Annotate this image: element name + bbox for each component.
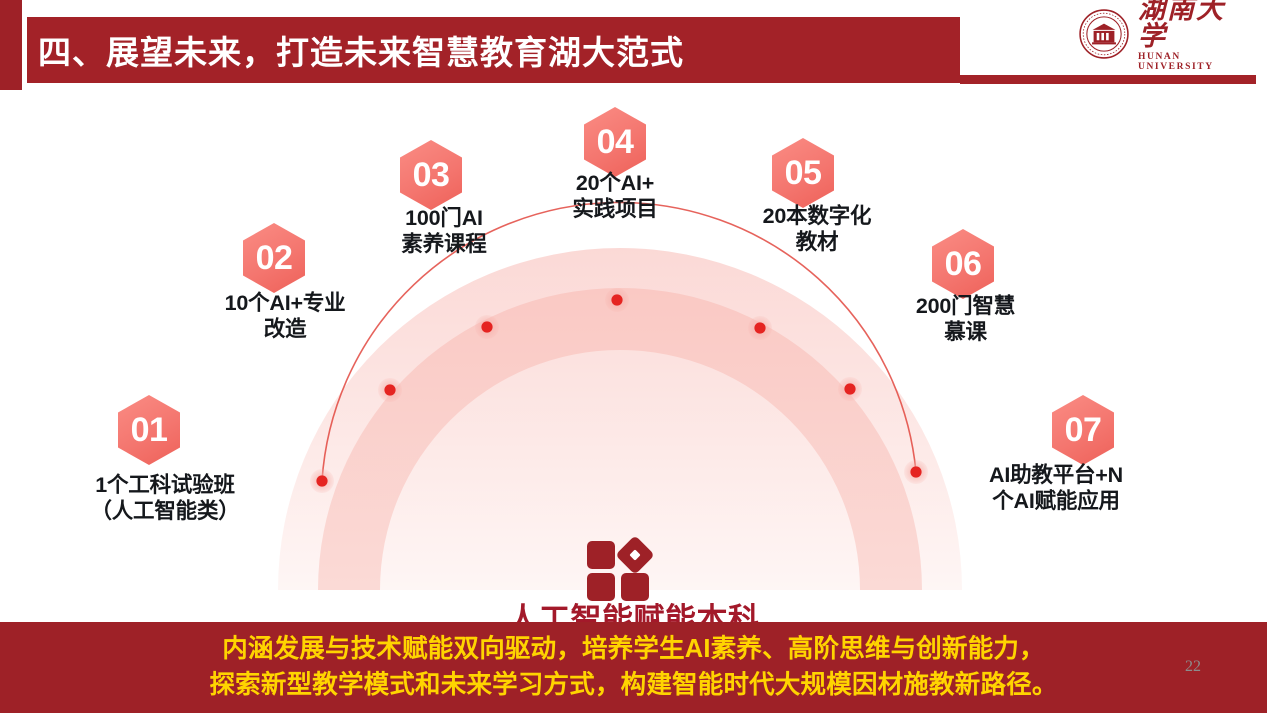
- logo-name-cn: 湖南大学: [1138, 0, 1253, 50]
- step-label-04: 20个AI+ 实践项目: [505, 170, 725, 222]
- step-label-05: 20本数字化 教材: [702, 203, 932, 255]
- logo-name-en: HUNAN UNIVERSITY: [1138, 52, 1253, 72]
- step-label-07: AI助教平台+N 个AI赋能应用: [936, 462, 1176, 514]
- footer-banner: 内涵发展与技术赋能双向驱动，培养学生AI素养、高阶思维与创新能力， 探索新型教学…: [0, 622, 1267, 713]
- step-label-02: 10个AI+专业 改造: [175, 290, 395, 342]
- university-logo: 湖南大学 HUNAN UNIVERSITY: [1078, 6, 1253, 62]
- title-accent-block: [0, 0, 22, 90]
- step-label-01: 1个工科试验班 （人工智能类）: [55, 472, 275, 524]
- page-number: 22: [1185, 658, 1201, 676]
- four-blocks-icon: [585, 533, 665, 603]
- footer-text: 内涵发展与技术赋能双向驱动，培养学生AI素养、高阶思维与创新能力， 探索新型教学…: [209, 632, 1057, 702]
- title-underline-rule: [960, 75, 1256, 84]
- step-label-06: 200门智慧 慕课: [853, 293, 1078, 345]
- diagram-stage: 01 1个工科试验班 （人工智能类） 02 10个AI+专业 改造 03 100…: [0, 90, 1267, 618]
- hunan-university-seal-icon: [1078, 8, 1130, 60]
- slide-title-bar: 四、展望未来，打造未来智慧教育湖大范式: [27, 17, 960, 83]
- logo-wordmark: 湖南大学 HUNAN UNIVERSITY: [1138, 0, 1253, 72]
- page-title: 四、展望未来，打造未来智慧教育湖大范式: [38, 26, 684, 74]
